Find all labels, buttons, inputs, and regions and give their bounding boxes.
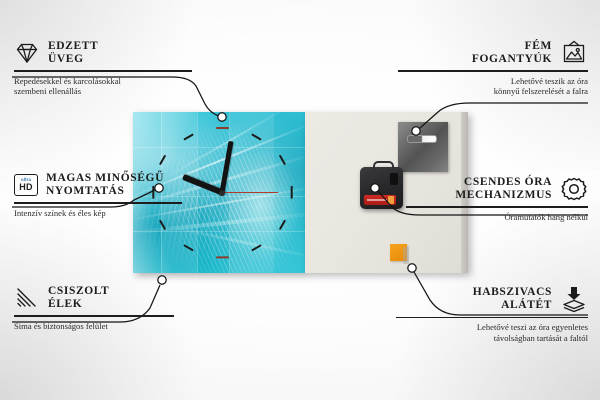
- clock-center-cap: [219, 190, 225, 196]
- callout-divider: [396, 317, 588, 318]
- gear-icon: [560, 176, 588, 202]
- callout-header: CSENDES ÓRA MECHANIZMUS: [406, 176, 588, 202]
- polished-edges-icon: [14, 286, 40, 310]
- callout-divider: [398, 70, 588, 71]
- clock-mechanism-housing: [360, 167, 403, 209]
- glass-reflection-line: [133, 147, 305, 148]
- callout-divider: [14, 202, 182, 203]
- callout-divider: [14, 315, 174, 316]
- mechanism-hanging-loop: [373, 161, 394, 172]
- callout-high-quality-print: ultra HD MAGAS MINŐSÉGŰ NYOMTATÁS Intenz…: [14, 172, 182, 218]
- callout-description: Óramutatók hang nélkül: [406, 212, 588, 223]
- callout-divider: [406, 206, 588, 207]
- callout-metal-handles: FÉM FOGANTYÚK Lehetővé teszik az óra kön…: [398, 40, 588, 97]
- callout-title: HABSZIVACS ALÁTÉT: [473, 286, 552, 312]
- callout-header: FÉM FOGANTYÚK: [398, 40, 588, 66]
- press-down-layers-icon: [560, 285, 588, 313]
- clock-second-hand: [222, 192, 278, 194]
- callout-title: CSISZOLT ÉLEK: [48, 285, 109, 311]
- callout-description: Intenzív színek és éles kép: [14, 208, 182, 219]
- mechanism-notch: [390, 173, 398, 185]
- metal-hanger-plate: [398, 122, 448, 172]
- ultra-hd-icon-main-label: HD: [19, 183, 32, 192]
- callout-polished-edges: CSISZOLT ÉLEK Sima és biztonságos felüle…: [14, 285, 174, 331]
- callout-divider: [14, 70, 192, 71]
- picture-frame-hanger-icon: [560, 40, 588, 66]
- callout-title: EDZETT ÜVEG: [48, 40, 98, 66]
- callout-title: CSENDES ÓRA MECHANIZMUS: [455, 176, 552, 202]
- callout-header: CSISZOLT ÉLEK: [14, 285, 174, 311]
- callout-description: Lehetővé teszi az óra egyenletes távolsá…: [396, 322, 588, 343]
- diamond-icon: [14, 41, 40, 65]
- callout-silent-mechanism: CSENDES ÓRA MECHANIZMUS Óramutatók hang …: [406, 176, 588, 222]
- callout-tempered-glass: EDZETT ÜVEG Repedésekkel és karcolásokka…: [14, 40, 192, 97]
- callout-header: ultra HD MAGAS MINŐSÉGŰ NYOMTATÁS: [14, 172, 182, 198]
- glass-reflection-line: [133, 231, 305, 232]
- hanger-slot: [407, 135, 437, 143]
- callout-description: Sima és biztonságos felület: [14, 321, 174, 332]
- callout-header: HABSZIVACS ALÁTÉT: [396, 285, 588, 313]
- clock-tick: [216, 256, 229, 258]
- wire-endpoint-polished-edges: [158, 276, 166, 284]
- foam-pad: [390, 244, 407, 261]
- callout-title: FÉM FOGANTYÚK: [472, 40, 552, 66]
- callout-header: EDZETT ÜVEG: [14, 40, 192, 66]
- battery-stripe: [367, 199, 387, 201]
- clock-tick: [290, 186, 292, 199]
- ultra-hd-icon: ultra HD: [14, 174, 38, 196]
- callout-description: Lehetővé teszik az óra könnyű felszerelé…: [398, 76, 588, 97]
- callout-description: Repedésekkel és karcolásokkal szembeni e…: [14, 76, 192, 97]
- callout-title: MAGAS MINŐSÉGŰ NYOMTATÁS: [46, 172, 164, 198]
- callout-foam-pad: HABSZIVACS ALÁTÉT Lehetővé teszi az óra …: [396, 285, 588, 344]
- infographic-canvas: EDZETT ÜVEG Repedésekkel és karcolásokka…: [0, 0, 600, 400]
- battery: [364, 195, 396, 205]
